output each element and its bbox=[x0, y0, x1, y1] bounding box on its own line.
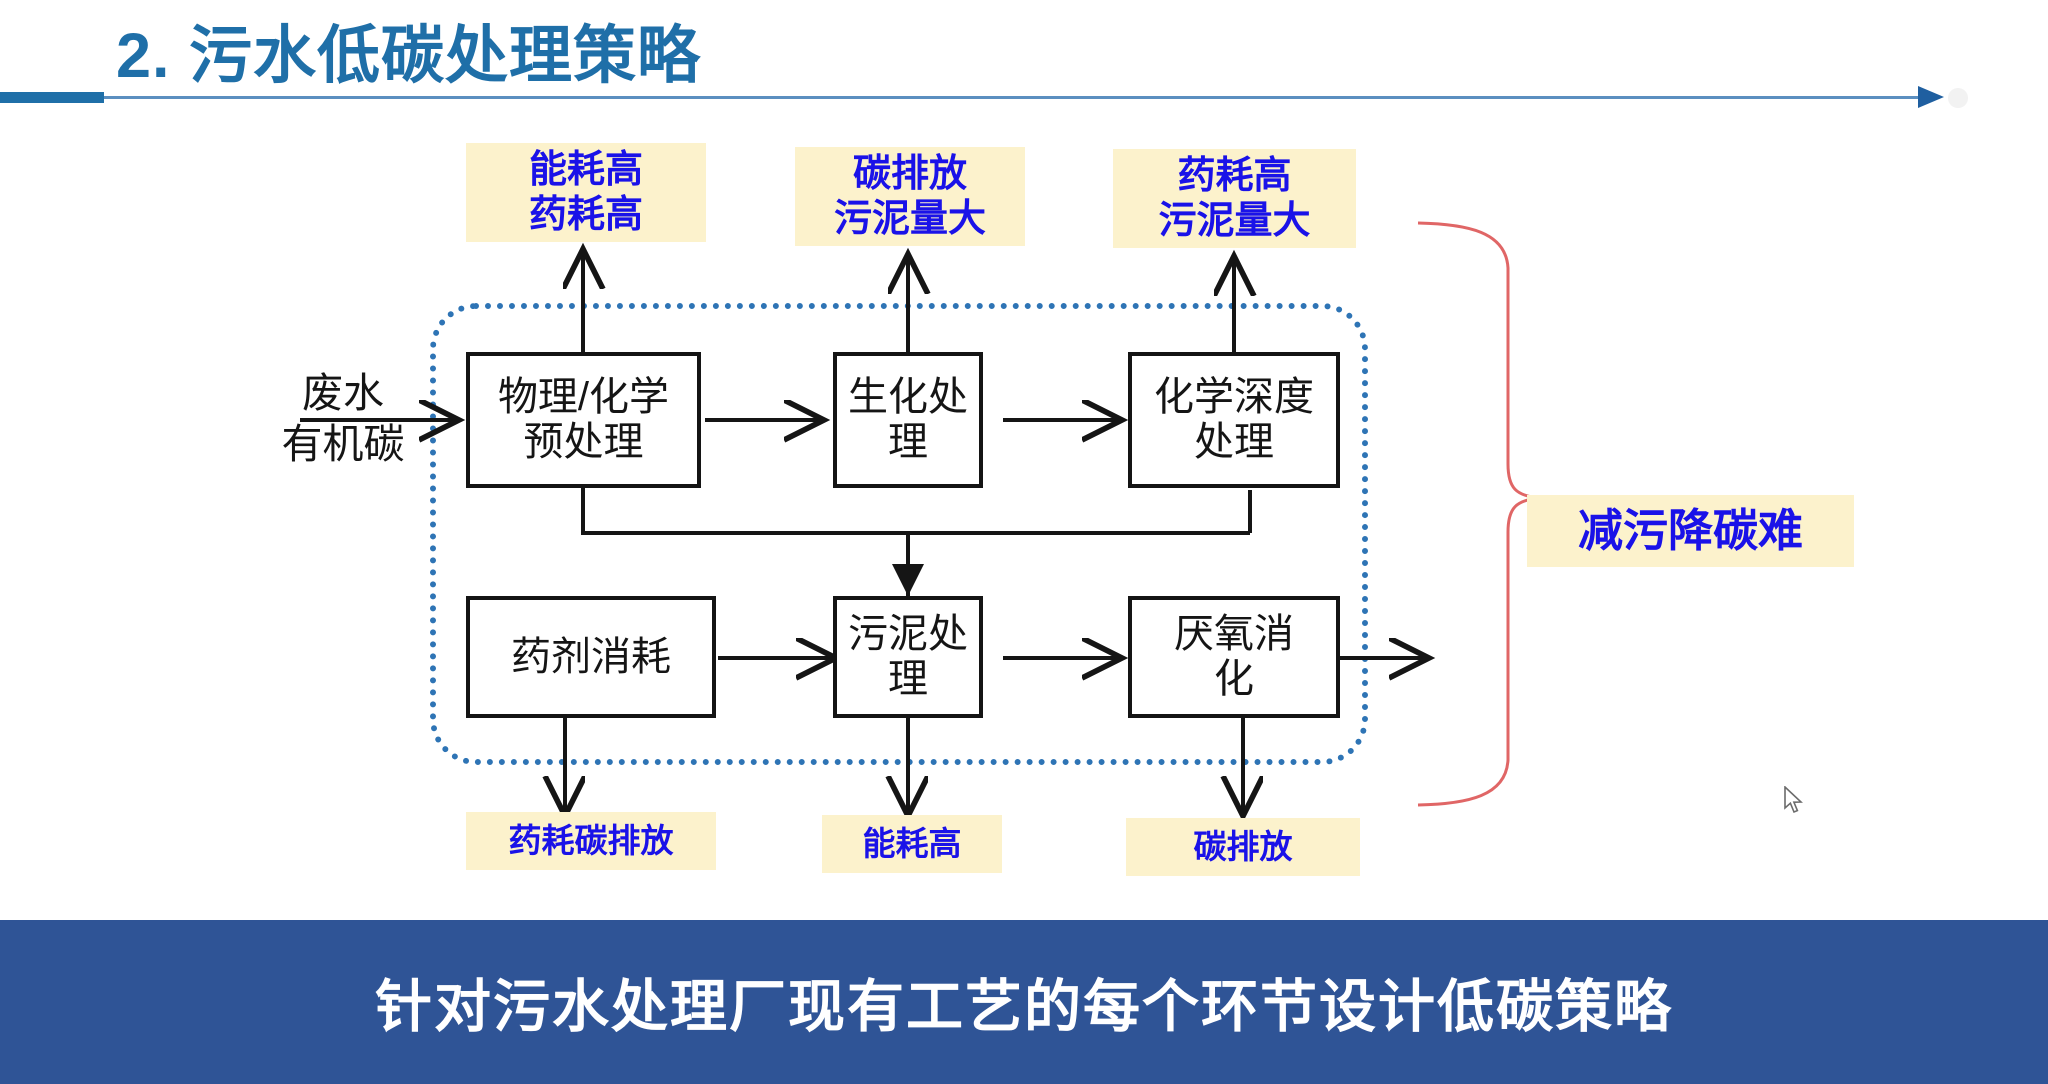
process-box-chemical-advanced-line1: 化学深度 bbox=[1150, 375, 1318, 420]
mouse-cursor-icon bbox=[1784, 786, 1806, 816]
callout-bottom-1: 药耗碳排放 bbox=[466, 812, 716, 870]
process-box-biochemical-line2: 理 bbox=[844, 420, 972, 465]
process-box-anaerobic-digestion[interactable]: 厌氧消 化 bbox=[1128, 596, 1340, 718]
page-title: 2. 污水低碳处理策略 bbox=[116, 20, 701, 92]
process-box-biochemical-line1: 生化处 bbox=[844, 375, 972, 420]
process-box-pretreatment-line2: 预处理 bbox=[494, 420, 673, 465]
slide-canvas: 2. 污水低碳处理策略 能耗高 药耗高 碳排放 污泥量大 药耗高 污泥量大 废水… bbox=[0, 0, 2048, 1084]
callout-top-3: 药耗高 污泥量大 bbox=[1113, 149, 1356, 248]
callout-top-2: 碳排放 污泥量大 bbox=[795, 147, 1025, 246]
header-rule-end-dot-icon bbox=[1948, 88, 1968, 108]
process-box-sludge-treatment-line2: 理 bbox=[844, 657, 972, 702]
header-rule-arrow-icon bbox=[1918, 86, 1944, 108]
process-box-pretreatment[interactable]: 物理/化学 预处理 bbox=[466, 352, 701, 488]
bottom-banner: 针对污水处理厂现有工艺的每个环节设计低碳策略 bbox=[0, 920, 2048, 1084]
process-box-anaerobic-digestion-line1: 厌氧消 bbox=[1170, 612, 1298, 657]
callout-bottom-3: 碳排放 bbox=[1126, 818, 1360, 876]
callout-top-1: 能耗高 药耗高 bbox=[466, 143, 706, 242]
process-box-anaerobic-digestion-line2: 化 bbox=[1170, 657, 1298, 702]
process-box-chemical-advanced-line2: 处理 bbox=[1150, 420, 1318, 465]
process-box-pretreatment-line1: 物理/化学 bbox=[494, 375, 673, 420]
process-box-sludge-treatment-line1: 污泥处 bbox=[844, 612, 972, 657]
process-box-chemical-advanced[interactable]: 化学深度 处理 bbox=[1128, 352, 1340, 488]
header-accent-bar bbox=[0, 92, 104, 103]
process-box-chemical-consumption-line1: 药剂消耗 bbox=[507, 635, 675, 680]
callout-right-summary: 减污降碳难 bbox=[1527, 495, 1854, 567]
process-box-chemical-consumption[interactable]: 药剂消耗 bbox=[466, 596, 716, 718]
bottom-banner-text: 针对污水处理厂现有工艺的每个环节设计低碳策略 bbox=[375, 961, 1673, 1043]
header-rule bbox=[104, 96, 1924, 99]
process-box-biochemical[interactable]: 生化处 理 bbox=[833, 352, 983, 488]
input-label-wastewater: 废水 有机碳 bbox=[243, 368, 443, 471]
callout-bottom-2: 能耗高 bbox=[822, 815, 1002, 873]
process-box-sludge-treatment[interactable]: 污泥处 理 bbox=[833, 596, 983, 718]
